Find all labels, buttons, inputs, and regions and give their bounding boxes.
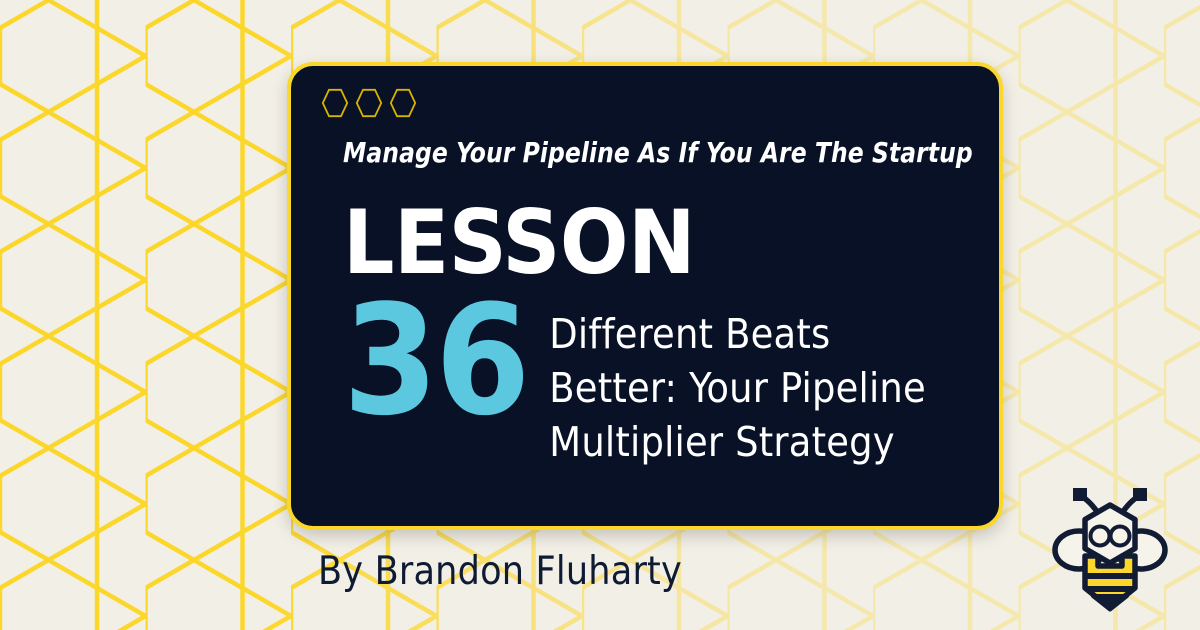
bee-body xyxy=(1085,556,1135,610)
hexagon-dot-1-icon xyxy=(321,88,349,118)
lesson-card: Manage Your Pipeline As If You Are The S… xyxy=(287,62,1003,530)
hexagon-dot-3-icon xyxy=(389,88,417,118)
glasses-right-lens xyxy=(1111,527,1130,546)
lesson-title: Different Beats Better: Your Pipeline Mu… xyxy=(549,301,959,469)
author-byline: By Brandon Fluharty xyxy=(318,552,682,591)
antenna-tip-right xyxy=(1133,488,1147,501)
lesson-label: LESSON xyxy=(343,199,971,287)
glasses-left-lens xyxy=(1091,527,1110,546)
bee-logo xyxy=(1048,476,1172,612)
slide-canvas: Manage Your Pipeline As If You Are The S… xyxy=(0,0,1200,630)
lesson-number: 36 xyxy=(343,291,527,431)
hexagon-dot-2-icon xyxy=(355,88,383,118)
window-dots xyxy=(321,88,417,118)
antenna-tip-left xyxy=(1073,488,1087,501)
bee-mascot-icon xyxy=(1048,476,1172,612)
card-content: Manage Your Pipeline As If You Are The S… xyxy=(343,138,959,469)
card-eyebrow: Manage Your Pipeline As If You Are The S… xyxy=(343,138,916,169)
lesson-headline-row: 36 Different Beats Better: Your Pipeline… xyxy=(343,301,959,469)
